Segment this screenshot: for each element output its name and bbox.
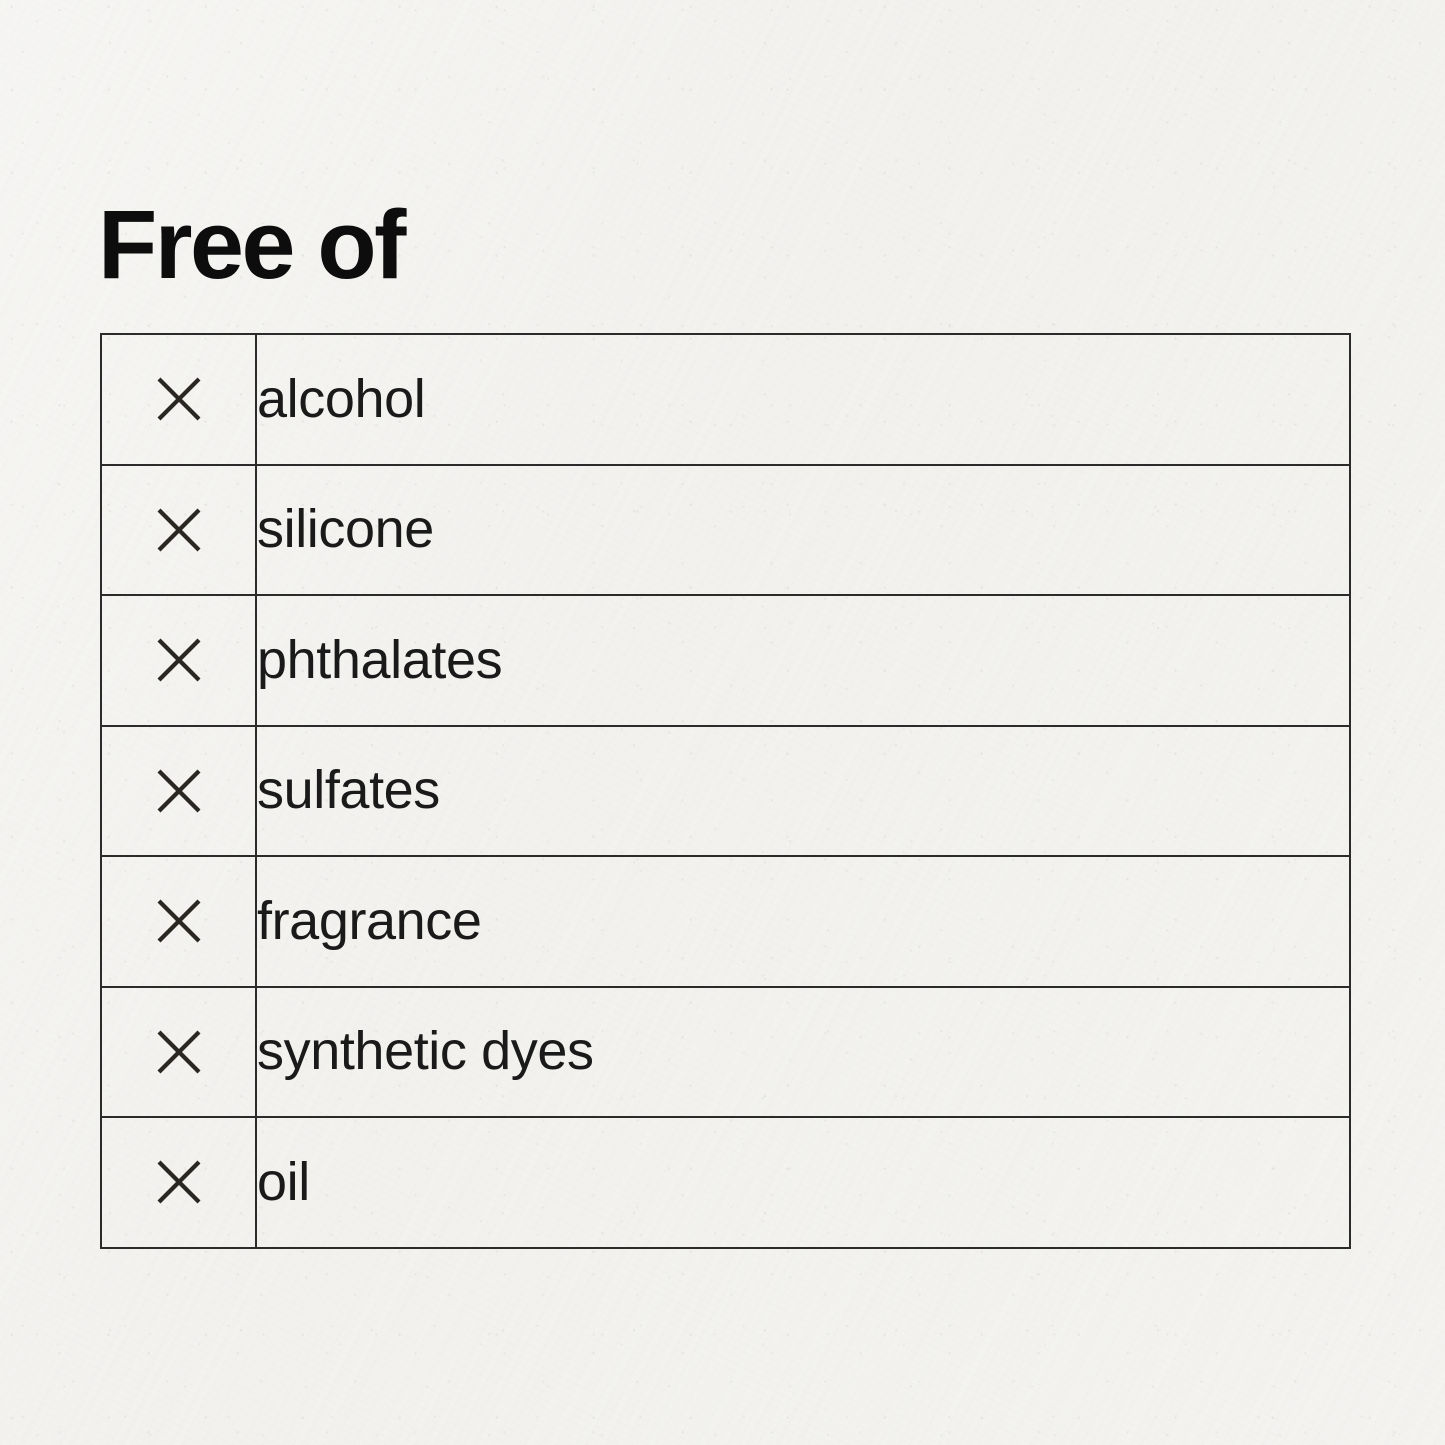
table-cell-label: alcohol [256, 334, 1350, 465]
x-mark-icon [156, 507, 202, 553]
table-row: phthalates [101, 595, 1350, 726]
free-of-table-body: alcohol silicone [101, 334, 1350, 1248]
free-of-table: alcohol silicone [100, 333, 1351, 1249]
table-row: silicone [101, 465, 1350, 596]
table-row: alcohol [101, 334, 1350, 465]
ingredient-label: oil [257, 1152, 310, 1212]
x-mark-icon [156, 768, 202, 814]
x-mark-icon [156, 898, 202, 944]
table-cell-mark [101, 856, 256, 987]
paper-canvas: Free of alcohol [0, 0, 1445, 1445]
table-cell-label: fragrance [256, 856, 1350, 987]
ingredient-label: fragrance [257, 891, 482, 951]
table-cell-label: sulfates [256, 726, 1350, 857]
table-cell-mark [101, 595, 256, 726]
ingredient-label: synthetic dyes [257, 1021, 594, 1081]
table-row: synthetic dyes [101, 987, 1350, 1118]
table-cell-label: synthetic dyes [256, 987, 1350, 1118]
table-row: oil [101, 1117, 1350, 1248]
ingredient-label: sulfates [257, 760, 440, 820]
table-cell-label: phthalates [256, 595, 1350, 726]
table-cell-mark [101, 334, 256, 465]
x-mark-icon [156, 637, 202, 683]
table-row: fragrance [101, 856, 1350, 987]
table-cell-label: silicone [256, 465, 1350, 596]
table-cell-mark [101, 726, 256, 857]
x-mark-icon [156, 1159, 202, 1205]
table-cell-label: oil [256, 1117, 1350, 1248]
x-mark-icon [156, 1029, 202, 1075]
x-mark-icon [156, 376, 202, 422]
ingredient-label: alcohol [257, 369, 425, 429]
ingredient-label: phthalates [257, 630, 502, 690]
table-cell-mark [101, 987, 256, 1118]
page-title: Free of [98, 196, 404, 293]
table-row: sulfates [101, 726, 1350, 857]
table-cell-mark [101, 1117, 256, 1248]
table-cell-mark [101, 465, 256, 596]
ingredient-label: silicone [257, 499, 434, 559]
